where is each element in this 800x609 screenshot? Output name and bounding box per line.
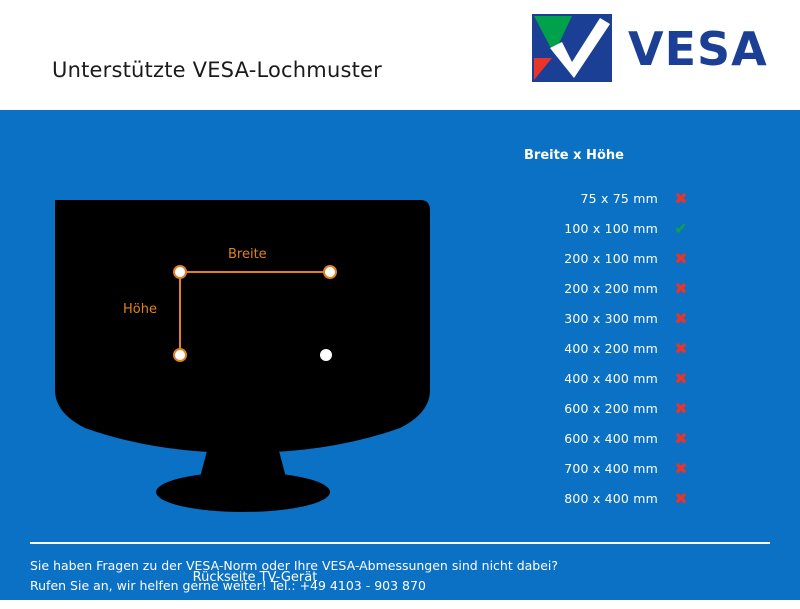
table-row: 700 x 400 mm✖	[498, 453, 758, 483]
table-row: 100 x 100 mm✔	[498, 213, 758, 243]
cross-icon: ✖	[658, 399, 704, 418]
vesa-size-table: Breite x Höhe 75 x 75 mm✖100 x 100 mm✔20…	[498, 148, 758, 513]
table-row: 600 x 400 mm✖	[498, 423, 758, 453]
vesa-size-label: 800 x 400 mm	[498, 491, 658, 506]
table-row: 200 x 100 mm✖	[498, 243, 758, 273]
mount-hole-bottom-left	[174, 349, 186, 361]
cross-icon: ✖	[658, 339, 704, 358]
tv-base-shape	[156, 472, 330, 512]
table-rows: 75 x 75 mm✖100 x 100 mm✔200 x 100 mm✖200…	[498, 183, 758, 513]
mount-hole-top-left	[174, 266, 186, 278]
table-row: 400 x 400 mm✖	[498, 363, 758, 393]
cross-icon: ✖	[658, 309, 704, 328]
vesa-size-label: 100 x 100 mm	[498, 221, 658, 236]
cross-icon: ✖	[658, 189, 704, 208]
vesa-size-label: 300 x 300 mm	[498, 311, 658, 326]
footer-divider	[30, 542, 770, 544]
vesa-size-label: 400 x 400 mm	[498, 371, 658, 386]
table-row: 75 x 75 mm✖	[498, 183, 758, 213]
height-label: Höhe	[123, 302, 157, 317]
vesa-logo-mark	[532, 14, 612, 82]
table-header: Breite x Höhe	[498, 148, 758, 163]
mount-hole-top-right	[324, 266, 336, 278]
table-row: 300 x 300 mm✖	[498, 303, 758, 333]
cross-icon: ✖	[658, 249, 704, 268]
width-label: Breite	[228, 247, 267, 262]
cross-icon: ✖	[658, 489, 704, 508]
vesa-logo: VESA	[532, 14, 782, 84]
vesa-info-page: Unterstützte VESA-Lochmuster VESA	[0, 0, 800, 600]
vesa-size-label: 75 x 75 mm	[498, 191, 658, 206]
footer-line-1: Sie haben Fragen zu der VESA-Norm oder I…	[30, 558, 558, 573]
tv-screen-shape	[55, 200, 430, 453]
vesa-size-label: 200 x 100 mm	[498, 251, 658, 266]
vesa-size-label: 600 x 400 mm	[498, 431, 658, 446]
cross-icon: ✖	[658, 369, 704, 388]
cross-icon: ✖	[658, 279, 704, 298]
vesa-size-label: 400 x 200 mm	[498, 341, 658, 356]
cross-icon: ✖	[658, 459, 704, 478]
page-title: Unterstützte VESA-Lochmuster	[52, 58, 382, 82]
content-panel: Breite Höhe Rückseite TV-Gerät Breite x …	[0, 110, 800, 600]
table-row: 600 x 200 mm✖	[498, 393, 758, 423]
mount-hole-bottom-right	[320, 349, 332, 361]
table-row: 400 x 200 mm✖	[498, 333, 758, 363]
cross-icon: ✖	[658, 429, 704, 448]
footer-line-2: Rufen Sie an, wir helfen gerne weiter! T…	[30, 578, 426, 593]
vesa-logo-text: VESA	[628, 22, 768, 76]
vesa-size-label: 700 x 400 mm	[498, 461, 658, 476]
table-row: 800 x 400 mm✖	[498, 483, 758, 513]
page-header: Unterstützte VESA-Lochmuster VESA	[0, 0, 800, 110]
check-icon: ✔	[658, 219, 704, 238]
table-row: 200 x 200 mm✖	[498, 273, 758, 303]
vesa-size-label: 200 x 200 mm	[498, 281, 658, 296]
vesa-size-label: 600 x 200 mm	[498, 401, 658, 416]
